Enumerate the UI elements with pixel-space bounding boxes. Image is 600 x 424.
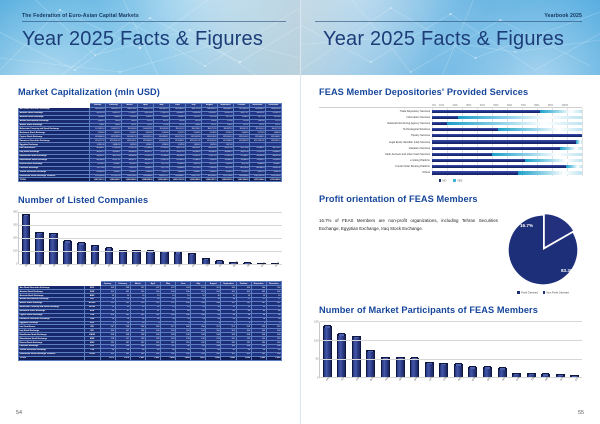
x-axis-tick-label: PEX bbox=[108, 262, 113, 268]
yearbook-spread: The Federation of Euro-Asian Capital Mar… bbox=[0, 0, 600, 424]
bar-segment-no bbox=[432, 140, 576, 143]
x-axis-slot: PEX bbox=[101, 264, 115, 280]
profit-orientation-pie: 16.7% 83.3% bbox=[504, 211, 582, 289]
x-axis-slot: DSE bbox=[509, 378, 524, 394]
chart-bar-row: Others bbox=[319, 170, 582, 176]
bar-segment-yes bbox=[458, 116, 582, 119]
chart-column bbox=[538, 322, 553, 378]
table-row: TOTAL1,867,661.31,869,660.71,842,808.81,… bbox=[19, 178, 282, 182]
table-cell: 1,848,808.4 bbox=[138, 178, 154, 182]
table-cell: 1,681 bbox=[145, 356, 160, 360]
x-axis-slot: AMX bbox=[240, 264, 254, 280]
bar-track bbox=[432, 147, 582, 150]
bar-segment-no bbox=[432, 128, 498, 131]
category-label: e-Voting Platform bbox=[319, 159, 432, 162]
category-label: Others bbox=[319, 171, 432, 174]
x-axis-tick-label: ISX bbox=[340, 376, 345, 381]
table-cell: 1,842,808.8 bbox=[122, 178, 138, 182]
chart-bar bbox=[323, 326, 332, 378]
depositories-services-chart: 0%10%20%30%40%50%60%70%80%90%100% Trade … bbox=[319, 104, 582, 182]
x-axis-slot: BCSE bbox=[363, 378, 378, 394]
market-participants-x-axis: KASEISXIFBBCSEASEATHEXMSEUZSECSEPEXBVBMS… bbox=[319, 378, 582, 394]
table-cell: 1,680 bbox=[266, 356, 281, 360]
x-axis-tick-label: ASE bbox=[135, 262, 140, 268]
page-right: Yearbook 2025 Year 2025 Facts & Figures … bbox=[300, 0, 600, 424]
chart-column bbox=[144, 212, 158, 264]
x-axis-slot: KASE bbox=[87, 264, 101, 280]
chart-column bbox=[524, 322, 539, 378]
chart-column bbox=[466, 322, 481, 378]
x-axis-slot: CSE bbox=[143, 264, 157, 280]
chart-column bbox=[437, 322, 452, 378]
table-cell: 1,868,878.9 bbox=[218, 178, 234, 182]
market-participants-plot: 050100150 bbox=[319, 322, 582, 378]
y-axis-tick-label: 400 bbox=[13, 211, 17, 214]
table-cell: 1,838,088.6 bbox=[186, 178, 202, 182]
chart-column bbox=[199, 212, 213, 264]
x-axis-tick-label: BCSE bbox=[233, 261, 239, 268]
right-header-rule bbox=[315, 21, 582, 22]
profit-orientation-block: 16.7% of FEAS Members are non-profit org… bbox=[319, 211, 582, 294]
chart-column bbox=[422, 322, 437, 378]
chart-column bbox=[33, 212, 47, 264]
x-axis-tick-label: TSE bbox=[530, 376, 535, 382]
pie-label-minor: 16.7% bbox=[520, 223, 533, 228]
category-label: Technological Solutions bbox=[319, 128, 432, 131]
chart-column bbox=[213, 212, 227, 264]
bar-track bbox=[432, 128, 582, 131]
right-page-number: 55 bbox=[578, 410, 584, 416]
y-axis-tick-label: 300 bbox=[13, 224, 17, 227]
page-left: The Federation of Euro-Asian Capital Mar… bbox=[0, 0, 300, 424]
table-cell: 1,680 bbox=[206, 356, 221, 360]
x-axis-tick-label: CSE bbox=[443, 375, 448, 381]
x-axis-slot: ISX/IFB bbox=[74, 264, 88, 280]
x-axis-slot: TSE bbox=[199, 264, 213, 280]
grid-line bbox=[19, 225, 282, 226]
x-axis-tick-label: BVB bbox=[163, 262, 168, 268]
bar-segment-no bbox=[432, 116, 457, 119]
bar-track bbox=[432, 116, 582, 119]
table-cell: 1,869,660.7 bbox=[106, 178, 122, 182]
table-cell: 1,672 bbox=[100, 356, 115, 360]
chart-column bbox=[88, 212, 102, 264]
bar-track bbox=[432, 110, 582, 113]
table-cell: 1,868,387.0 bbox=[202, 178, 218, 182]
y-axis-tick-label: 100 bbox=[13, 250, 17, 253]
market-capitalization-table: JanuaryFebruaryMarchAprilMayJuneJulyAugu… bbox=[18, 103, 282, 182]
chart-bar bbox=[410, 358, 419, 378]
chart-column bbox=[407, 322, 422, 378]
chart-column bbox=[185, 212, 199, 264]
x-axis-slot: EGX bbox=[567, 378, 582, 394]
bar-segment-yes bbox=[525, 159, 582, 162]
x-axis-slot: AIX2 bbox=[268, 264, 282, 280]
chart-column bbox=[335, 322, 350, 378]
chart-column bbox=[553, 322, 568, 378]
x-axis-slot: AIX bbox=[553, 378, 568, 394]
x-axis-tick-label: BVB bbox=[472, 376, 477, 382]
table-row: TOTAL1,6721,6791,6811,6811,6841,6801,681… bbox=[19, 356, 282, 360]
chart-column bbox=[268, 212, 282, 264]
bar-segment-yes bbox=[447, 122, 582, 125]
x-axis-slot: BVB bbox=[465, 378, 480, 394]
grid-line bbox=[320, 321, 582, 322]
market-participants-chart: 050100150 KASEISXIFBBCSEASEATHEXMSEUZSEC… bbox=[319, 322, 582, 394]
x-axis-slot: CSE bbox=[436, 378, 451, 394]
x-axis-slot: AMX bbox=[538, 378, 553, 394]
table-cell: 1,879,008.4 bbox=[250, 178, 266, 182]
x-axis-slot: UZSE bbox=[171, 264, 185, 280]
x-axis-tick-label: DSE bbox=[191, 262, 196, 268]
bar-segment-no bbox=[432, 134, 582, 137]
x-axis-tick-label: IFB bbox=[355, 377, 360, 382]
chart-column bbox=[495, 322, 510, 378]
chart-column bbox=[61, 212, 75, 264]
listed-companies-chart: 0100200300400 IFBMSXATHEXMSEISX/IFBKASEP… bbox=[18, 212, 282, 280]
x-axis-tick-label: CSE bbox=[149, 262, 154, 268]
depositories-services-heading: FEAS Member Depositories' Provided Servi… bbox=[319, 87, 582, 97]
chart-column bbox=[254, 212, 268, 264]
chart-column bbox=[157, 212, 171, 264]
table-cell: 1,869,704.18 bbox=[170, 178, 186, 182]
left-header-rule bbox=[22, 21, 286, 22]
chart-column bbox=[509, 322, 524, 378]
bar-track bbox=[432, 159, 582, 162]
category-label: Triparty Services bbox=[319, 134, 432, 137]
bar-segment-yes bbox=[566, 165, 582, 168]
profit-orientation-heading: Profit orientation of FEAS Members bbox=[319, 194, 582, 204]
listed-companies-heading: Number of Listed Companies bbox=[18, 195, 282, 205]
pie-chart-icon bbox=[504, 211, 582, 289]
market-capitalization-heading: Market Capitalization (mln USD) bbox=[18, 87, 282, 97]
grid-line bbox=[19, 238, 282, 239]
grid-line bbox=[320, 340, 582, 341]
chart-column bbox=[451, 322, 466, 378]
x-axis-slot: ATHEX bbox=[46, 264, 60, 280]
pie-legend: Profit OrientedNon Profit Oriented bbox=[504, 291, 582, 294]
table-cell: 1,867,406.8 bbox=[234, 178, 250, 182]
bar-track bbox=[432, 140, 582, 143]
x-axis-slot: MSX bbox=[32, 264, 46, 280]
left-page-title: Year 2025 Facts & Figures bbox=[22, 28, 263, 51]
table-cell: 1,830,040.3 bbox=[154, 178, 170, 182]
legend-item: Non Profit Oriented bbox=[543, 291, 569, 294]
x-axis-slot: IFB bbox=[348, 378, 363, 394]
grid-line bbox=[320, 359, 582, 360]
bar-track bbox=[432, 165, 582, 168]
legend-item: YES bbox=[453, 179, 462, 182]
exchange-name-cell: TOTAL bbox=[19, 178, 90, 182]
table-cell: 1,679 bbox=[115, 356, 130, 360]
bar-segment-yes bbox=[540, 110, 582, 113]
y-axis-tick-label: 150 bbox=[314, 320, 318, 323]
x-axis-slot: ATHEX bbox=[392, 378, 407, 394]
chart-column bbox=[171, 212, 185, 264]
table-cell: 1,680 bbox=[221, 356, 236, 360]
bar-track bbox=[432, 134, 582, 137]
bar-segment-yes bbox=[518, 171, 582, 174]
x-axis-tick-label: AMX bbox=[247, 262, 253, 268]
category-label: Legal Entity Identifier (LEI) Services bbox=[319, 141, 432, 144]
x-axis-slot: MSE bbox=[407, 378, 422, 394]
bar-segment-no bbox=[432, 110, 540, 113]
right-page-title: Year 2025 Facts & Figures bbox=[323, 28, 564, 51]
y-axis-tick-label: 50 bbox=[316, 358, 319, 361]
x-axis-slot: MSE bbox=[60, 264, 74, 280]
table-cell: 1,867,661.3 bbox=[90, 178, 106, 182]
chart-bar bbox=[381, 357, 390, 378]
category-label: Cash Account and other Cash Services bbox=[319, 153, 432, 156]
bar-segment-yes bbox=[498, 128, 582, 131]
bar-segment-no bbox=[432, 122, 447, 125]
left-header-eyebrow: The Federation of Euro-Asian Capital Mar… bbox=[22, 13, 139, 19]
x-axis-slot: EGX bbox=[254, 264, 268, 280]
x-axis-slot: BVB bbox=[157, 264, 171, 280]
y-axis-tick-label: 100 bbox=[314, 339, 318, 342]
x-axis-slot: ADX bbox=[115, 264, 129, 280]
bar-segment-no bbox=[432, 165, 565, 168]
bar-segment-yes bbox=[560, 147, 582, 150]
depositories-legend: NOYES bbox=[319, 179, 582, 182]
x-axis-tick-label: IFB bbox=[24, 263, 29, 268]
exchange-name-cell: TOTAL bbox=[19, 356, 85, 360]
bar-segment-no bbox=[432, 171, 517, 174]
x-axis-slot: ASE bbox=[377, 378, 392, 394]
left-page-number: 54 bbox=[16, 410, 22, 416]
exchange-code-cell bbox=[84, 356, 100, 360]
x-axis-slot: AIX bbox=[212, 264, 226, 280]
x-axis-tick-label: MSX bbox=[38, 262, 44, 268]
category-label: Valuation Services bbox=[319, 147, 432, 150]
x-axis-slot: ADX bbox=[494, 378, 509, 394]
chart-column bbox=[378, 322, 393, 378]
x-axis-tick-label: AMX bbox=[545, 375, 551, 381]
profit-orientation-pie-col: 16.7% 83.3% Profit OrientedNon Profit Or… bbox=[504, 211, 582, 294]
x-axis-tick-label: AIX bbox=[219, 263, 224, 268]
x-axis-slot: ISX bbox=[334, 378, 349, 394]
chart-column bbox=[74, 212, 88, 264]
listed-companies-table: JanuaryFebruaryMarchAprilMayJuneJulyAugu… bbox=[18, 281, 282, 360]
left-page-banner: The Federation of Euro-Asian Capital Mar… bbox=[0, 0, 300, 75]
x-axis-tick-label: AIX bbox=[559, 376, 564, 381]
x-axis-tick-label: TSE bbox=[205, 262, 210, 268]
chart-column bbox=[19, 212, 33, 264]
chart-column bbox=[349, 322, 364, 378]
table-cell: 1,769,068.4 bbox=[266, 178, 282, 182]
table-cell: 1,680 bbox=[236, 356, 251, 360]
bar-track bbox=[432, 153, 582, 156]
table-cell: 1,680 bbox=[251, 356, 266, 360]
table-cell: 1,681 bbox=[191, 356, 206, 360]
x-axis-slot: DSE bbox=[185, 264, 199, 280]
chart-column bbox=[320, 322, 335, 378]
x-axis-slot: PEX bbox=[450, 378, 465, 394]
y-axis-tick-label: 200 bbox=[13, 237, 17, 240]
bar-segment-no bbox=[432, 153, 492, 156]
chart-column bbox=[568, 322, 583, 378]
listed-companies-table-wrap: JanuaryFebruaryMarchAprilMayJuneJulyAugu… bbox=[18, 281, 282, 360]
market-participants-heading: Number of Market Participants of FEAS Me… bbox=[319, 305, 582, 315]
right-page-banner: Yearbook 2025 Year 2025 Facts & Figures bbox=[301, 0, 600, 75]
listed-companies-bars bbox=[19, 212, 282, 264]
x-axis-tick-label: EGX bbox=[261, 262, 266, 268]
x-axis-tick-label: AIX2 bbox=[274, 262, 280, 268]
bar-segment-yes bbox=[576, 140, 582, 143]
category-label: Trade Repository Services bbox=[319, 110, 432, 113]
category-label: Information Services bbox=[319, 116, 432, 119]
chart-bar bbox=[63, 241, 72, 265]
bar-segment-no bbox=[432, 147, 559, 150]
chart-bar bbox=[22, 214, 31, 264]
profit-orientation-paragraph: 16.7% of FEAS Members are non-profit org… bbox=[319, 217, 498, 232]
chart-column bbox=[393, 322, 408, 378]
grid-line bbox=[19, 251, 282, 252]
x-axis-tick-label: DSE bbox=[516, 375, 521, 381]
category-label: National Numbering Agency Services bbox=[319, 122, 432, 125]
x-axis-slot: BCSE bbox=[226, 264, 240, 280]
bar-segment-no bbox=[432, 159, 525, 162]
legend-item: NO bbox=[439, 179, 447, 182]
chart-column bbox=[102, 212, 116, 264]
x-axis-slot: KASE bbox=[319, 378, 334, 394]
table-cell: 1,681 bbox=[130, 356, 145, 360]
bar-track bbox=[432, 122, 582, 125]
legend-item: Profit Oriented bbox=[517, 291, 538, 294]
chart-column bbox=[227, 212, 241, 264]
chart-column bbox=[130, 212, 144, 264]
chart-column bbox=[241, 212, 255, 264]
x-axis-tick-label: ADX bbox=[122, 262, 127, 268]
bar-track bbox=[432, 171, 582, 174]
chart-column bbox=[116, 212, 130, 264]
category-label: Funds Order Routing Platform bbox=[319, 165, 432, 168]
bar-segment-yes bbox=[492, 153, 582, 156]
table-cell: 1,680 bbox=[176, 356, 191, 360]
chart-column bbox=[47, 212, 61, 264]
market-capitalization-table-wrap: JanuaryFebruaryMarchAprilMayJuneJulyAugu… bbox=[18, 103, 282, 182]
listed-companies-plot: 0100200300400 bbox=[18, 212, 282, 264]
chart-column bbox=[364, 322, 379, 378]
pie-label-major: 83.3% bbox=[561, 268, 574, 273]
right-header-eyebrow: Yearbook 2025 bbox=[544, 13, 582, 19]
table-cell: 1,684 bbox=[160, 356, 175, 360]
x-axis-tick-label: KASE bbox=[94, 261, 100, 268]
x-axis-slot: UZSE bbox=[421, 378, 436, 394]
x-axis-slot: IFB bbox=[18, 264, 32, 280]
grid-line bbox=[19, 212, 282, 213]
x-axis-slot: MSX bbox=[480, 378, 495, 394]
market-participants-bars bbox=[320, 322, 582, 378]
x-axis-slot: ASE bbox=[129, 264, 143, 280]
depositories-rows: Trade Repository ServicesInformation Ser… bbox=[319, 107, 582, 176]
chart-bar bbox=[352, 336, 361, 378]
profit-orientation-text-col: 16.7% of FEAS Members are non-profit org… bbox=[319, 211, 504, 232]
left-page-body: Market Capitalization (mln USD) JanuaryF… bbox=[0, 87, 300, 361]
chart-column bbox=[480, 322, 495, 378]
listed-companies-x-axis: IFBMSXATHEXMSEISX/IFBKASEPEXADXASECSEBVB… bbox=[18, 264, 282, 280]
x-axis-slot: TSE bbox=[524, 378, 539, 394]
right-page-body: FEAS Member Depositories' Provided Servi… bbox=[301, 87, 600, 394]
